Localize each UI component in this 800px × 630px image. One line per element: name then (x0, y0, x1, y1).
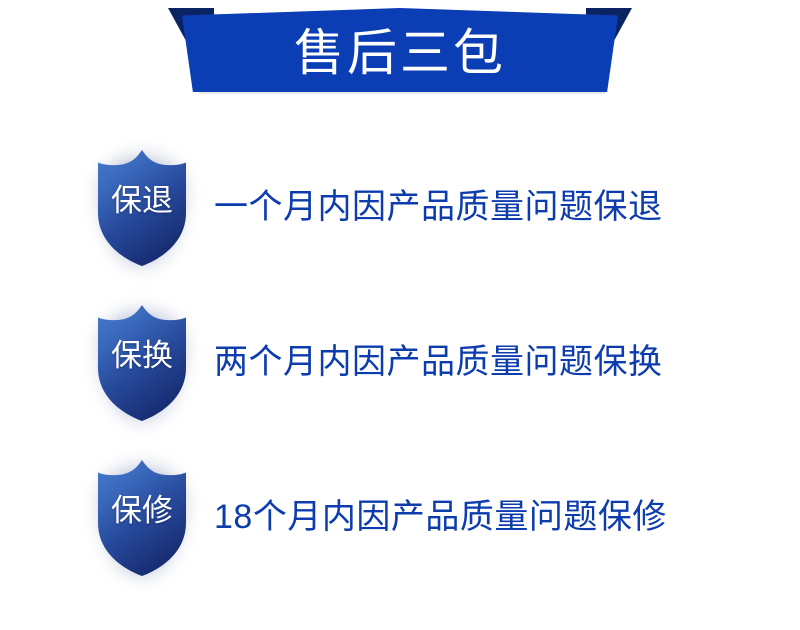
list-item: 保退 一个月内因产品质量问题保退 (0, 130, 800, 285)
shield-icon (96, 302, 188, 424)
banner-header: 售后三包 (0, 0, 800, 115)
warranty-description: 两个月内因产品质量问题保换 (214, 344, 663, 381)
shield-icon (96, 457, 188, 579)
shield-badge: 保换 (96, 302, 188, 424)
page-title: 售后三包 (294, 22, 506, 78)
list-item: 保修 18个月内因产品质量问题保修 (0, 440, 800, 595)
shield-badge: 保退 (96, 147, 188, 269)
warranty-list: 保退 一个月内因产品质量问题保退 (0, 130, 800, 595)
warranty-description: 一个月内因产品质量问题保退 (214, 189, 663, 226)
shield-icon (96, 147, 188, 269)
shield-badge: 保修 (96, 457, 188, 579)
banner-ribbon: 售后三包 (182, 8, 618, 92)
list-item: 保换 两个月内因产品质量问题保换 (0, 285, 800, 440)
warranty-description: 18个月内因产品质量问题保修 (214, 499, 667, 536)
